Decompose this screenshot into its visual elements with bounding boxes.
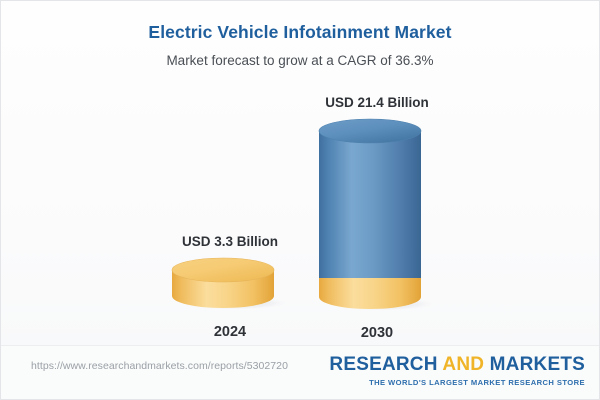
brand-name: RESEARCH AND MARKETS — [329, 354, 585, 376]
category-label-2030: 2030 — [296, 324, 458, 342]
chart-plot-area: USD 3.3 Billion — [1, 1, 600, 346]
brand-name-part1: RESEARCH — [329, 354, 442, 375]
brand-name-and: AND — [442, 354, 484, 375]
brand-tagline: THE WORLD'S LARGEST MARKET RESEARCH STOR… — [329, 376, 585, 388]
value-label-2030: USD 21.4 Billion — [296, 94, 458, 111]
brand-logo[interactable]: RESEARCH AND MARKETS THE WORLD'S LARGEST… — [329, 354, 585, 388]
cylinder-2030 — [317, 118, 437, 310]
cylinder-2024-shape — [170, 257, 290, 309]
bar-group-2024: USD 3.3 Billion — [149, 233, 311, 341]
cylinder-2024 — [170, 257, 290, 309]
infographic-canvas: Electric Vehicle Infotainment Market Mar… — [0, 0, 600, 400]
cylinder-2030-shape — [317, 118, 437, 310]
brand-name-part2: MARKETS — [484, 354, 585, 375]
footer-bar: https://www.researchandmarkets.com/repor… — [1, 345, 600, 399]
category-label-2024: 2024 — [149, 323, 311, 341]
value-label-2024: USD 3.3 Billion — [149, 233, 311, 250]
source-url[interactable]: https://www.researchandmarkets.com/repor… — [31, 360, 288, 372]
bar-group-2030: USD 21.4 Billion — [296, 94, 458, 342]
